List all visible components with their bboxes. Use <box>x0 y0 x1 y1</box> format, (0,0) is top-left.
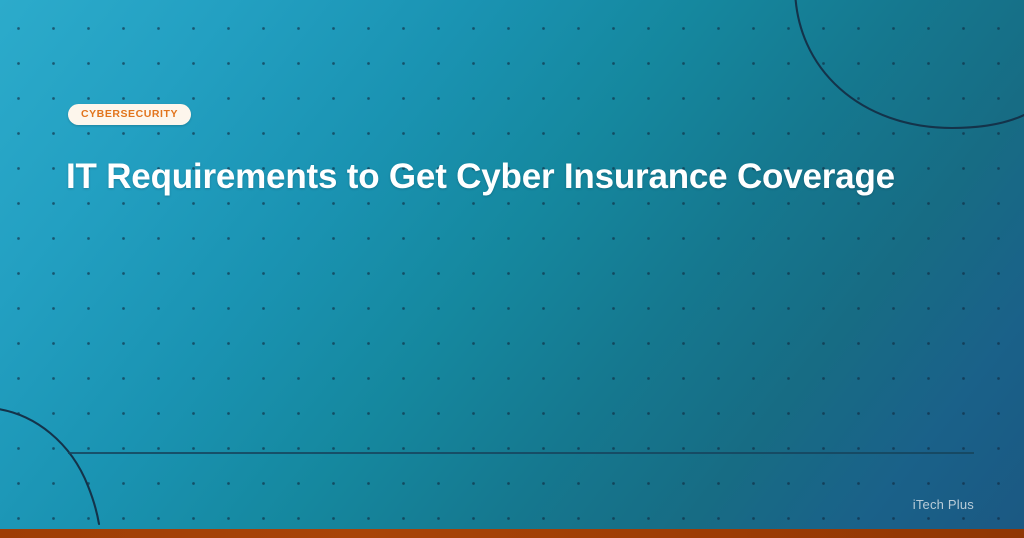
category-badge[interactable]: CYBERSECURITY <box>68 104 191 125</box>
banner-slide: CYBERSECURITY IT Requirements to Get Cyb… <box>0 0 1024 538</box>
arc-top-right-icon <box>795 0 1024 128</box>
horizontal-divider <box>68 452 974 454</box>
page-title: IT Requirements to Get Cyber Insurance C… <box>66 156 966 197</box>
footer-brand-label: iTech Plus <box>913 498 974 511</box>
arc-bottom-left-icon <box>0 408 99 524</box>
category-badge-label: CYBERSECURITY <box>81 109 178 120</box>
decorative-arcs <box>0 0 1024 538</box>
dot-grid-pattern <box>0 0 1024 530</box>
bottom-accent-bar <box>0 529 1024 538</box>
